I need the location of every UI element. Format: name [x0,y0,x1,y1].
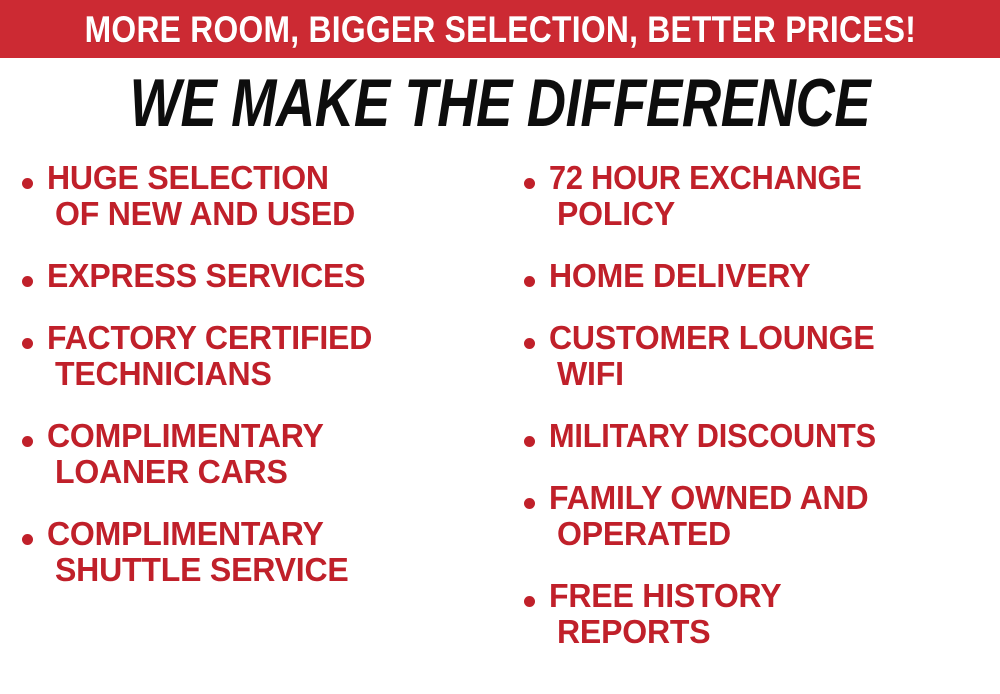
bullet-line-2: OF NEW AND USED [55,196,355,232]
bullet-text: FAMILY OWNED AND OPERATED [549,480,1000,552]
bullet-dot-icon [524,596,535,607]
bullet-line-2: LOANER CARS [55,454,288,490]
list-item: HOME DELIVERY [524,258,1000,294]
list-item: COMPLIMENTARY LOANER CARS [22,418,500,490]
bullet-text: CUSTOMER LOUNGE WIFI [549,320,1000,392]
bullet-dot-icon [524,338,535,349]
bullet-line-1: EXPRESS SERVICES [47,258,365,294]
bullet-dot-icon [524,178,535,189]
benefits-column-right: 72 HOUR EXCHANGE POLICY HOME DELIVERY CU… [500,160,1000,694]
bullet-line-1: FAMILY OWNED AND [549,480,868,516]
list-item: 72 HOUR EXCHANGE POLICY [524,160,1000,232]
bullet-text: EXPRESS SERVICES [47,258,500,294]
bullet-text: HUGE SELECTION OF NEW AND USED [47,160,500,232]
bullet-line-1: CUSTOMER LOUNGE [549,320,875,356]
bullet-line-2: POLICY [557,196,675,232]
bullet-text: COMPLIMENTARY LOANER CARS [47,418,500,490]
list-item: FREE HISTORY REPORTS [524,578,1000,650]
bullet-line-1: MILITARY DISCOUNTS [549,418,876,454]
top-banner: MORE ROOM, BIGGER SELECTION, BETTER PRIC… [0,0,1000,58]
benefits-columns: HUGE SELECTION OF NEW AND USED EXPRESS S… [0,160,1000,694]
bullet-dot-icon [22,178,33,189]
bullet-line-1: HOME DELIVERY [549,258,810,294]
page-title: WE MAKE THE DIFFERENCE [130,69,871,137]
bullet-text: COMPLIMENTARY SHUTTLE SERVICE [47,516,500,588]
bullet-dot-icon [524,436,535,447]
bullet-dot-icon [22,436,33,447]
list-item: EXPRESS SERVICES [22,258,500,294]
bullet-line-1: COMPLIMENTARY [47,516,324,552]
list-item: COMPLIMENTARY SHUTTLE SERVICE [22,516,500,588]
bullet-line-2: SHUTTLE SERVICE [55,552,349,588]
list-item: CUSTOMER LOUNGE WIFI [524,320,1000,392]
bullet-line-2: REPORTS [557,614,710,650]
bullet-line-1: FACTORY CERTIFIED [47,320,372,356]
banner-headline-text: MORE ROOM, BIGGER SELECTION, BETTER PRIC… [84,11,915,48]
bullet-text: FREE HISTORY REPORTS [549,578,1000,650]
headline-container: WE MAKE THE DIFFERENCE [0,66,1000,140]
list-item: FAMILY OWNED AND OPERATED [524,480,1000,552]
bullet-line-2: TECHNICIANS [55,356,272,392]
list-item: MILITARY DISCOUNTS [524,418,1000,454]
list-item: FACTORY CERTIFIED TECHNICIANS [22,320,500,392]
bullet-line-2: OPERATED [557,516,731,552]
bullet-dot-icon [524,498,535,509]
bullet-text: 72 HOUR EXCHANGE POLICY [549,160,1000,232]
bullet-line-1: FREE HISTORY [549,578,781,614]
bullet-text: MILITARY DISCOUNTS [549,418,1000,454]
bullet-line-1: COMPLIMENTARY [47,418,324,454]
bullet-line-1: HUGE SELECTION [47,160,329,196]
bullet-dot-icon [524,276,535,287]
bullet-line-2: WIFI [557,356,624,392]
promo-poster: MORE ROOM, BIGGER SELECTION, BETTER PRIC… [0,0,1000,694]
list-item: HUGE SELECTION OF NEW AND USED [22,160,500,232]
bullet-line-1: 72 HOUR EXCHANGE [549,160,862,196]
bullet-dot-icon [22,276,33,287]
bullet-text: FACTORY CERTIFIED TECHNICIANS [47,320,500,392]
bullet-dot-icon [22,338,33,349]
bullet-dot-icon [22,534,33,545]
bullet-text: HOME DELIVERY [549,258,1000,294]
benefits-column-left: HUGE SELECTION OF NEW AND USED EXPRESS S… [0,160,500,694]
